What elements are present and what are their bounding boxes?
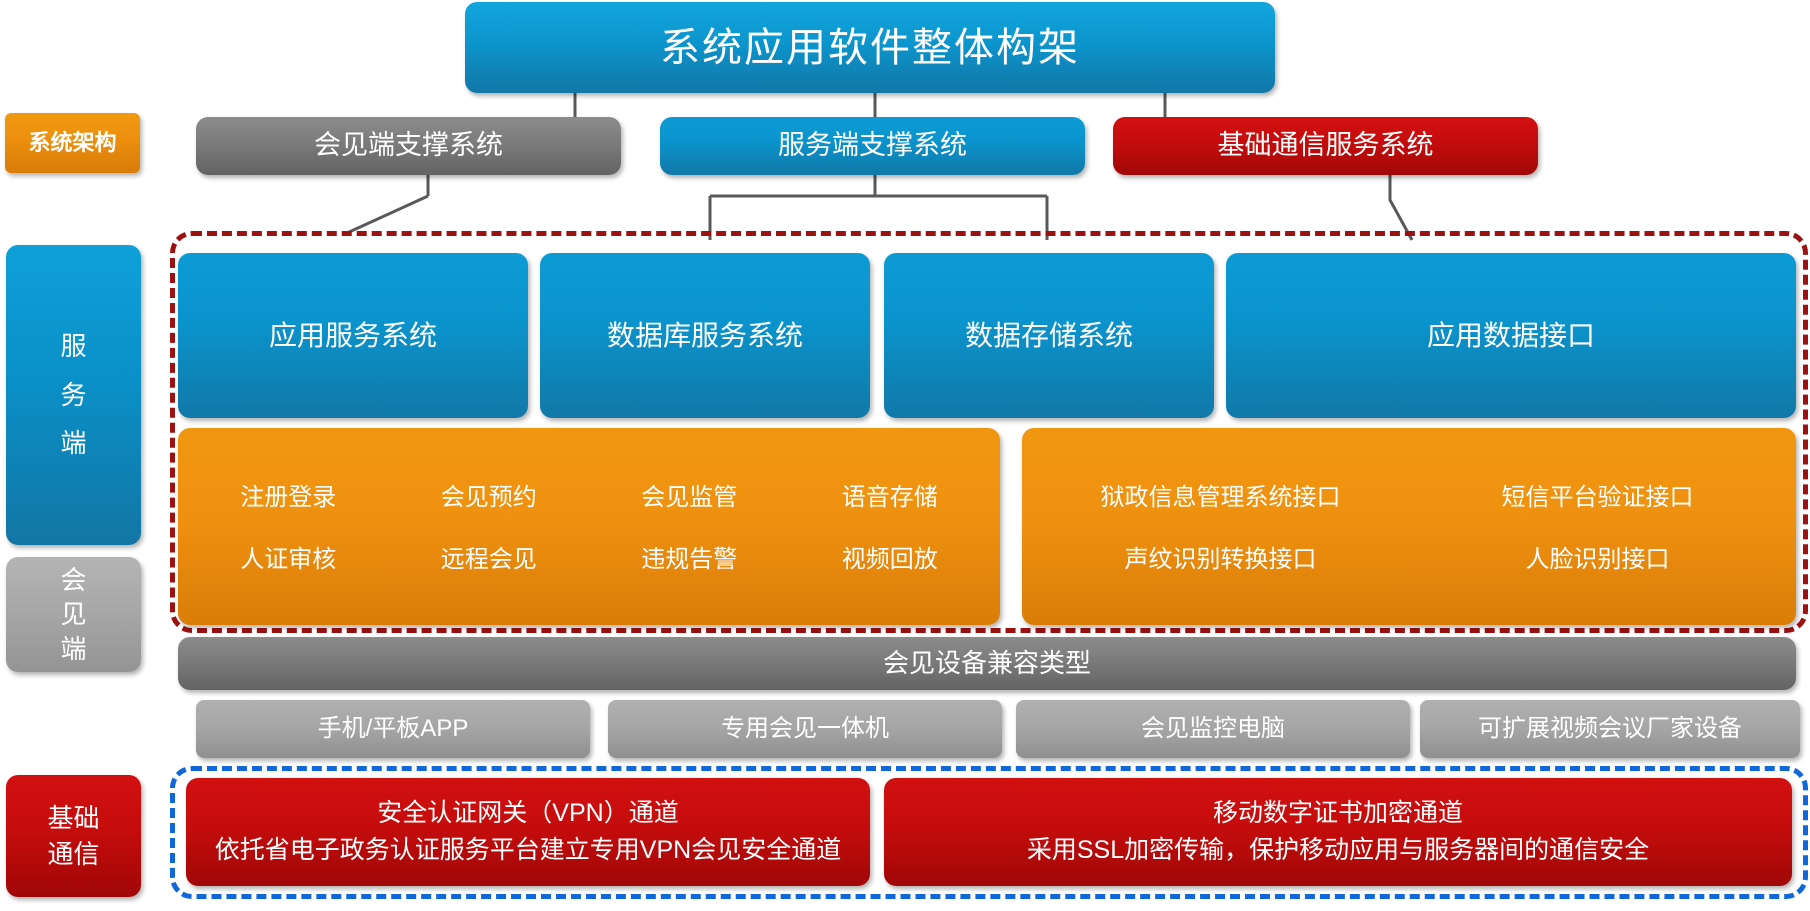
device-type-meeting-monitor-pc[interactable]: 会见监控电脑 <box>1016 700 1410 758</box>
comm-channel-mobile-cert-encrypted[interactable]: 移动数字证书加密通道 采用SSL加密传输，保护移动应用与服务器间的通信安全 <box>884 778 1792 886</box>
side-label-basic-communication-line-1: 基础 <box>47 802 99 835</box>
service-function-video-playback[interactable]: 视频回放 <box>790 545 991 575</box>
comm-channel-vpn-secure-gateway[interactable]: 安全认证网关（VPN）通道 依托省电子政务认证服务平台建立专用VPN会见安全通道 <box>186 778 870 886</box>
side-label-basic-communication: 基础 通信 <box>6 775 141 897</box>
service-interface-sms-verification[interactable]: 短信平台验证接口 <box>1409 483 1786 513</box>
service-function-violation-alert[interactable]: 违规告警 <box>589 545 790 575</box>
side-label-server-side-char-2: 务 <box>60 379 86 412</box>
service-functions-panel: 注册登录 会见预约 会见监管 语音存储 人证审核 远程会见 违规告警 视频回放 <box>178 428 1000 625</box>
service-box-application-service-system-label: 应用服务系统 <box>269 318 437 353</box>
service-functions-row-2: 人证审核 远程会见 违规告警 视频回放 <box>188 545 990 575</box>
arch-box-basic-comm-service-system-label: 基础通信服务系统 <box>1218 129 1434 163</box>
side-label-meeting-terminal-char-1: 会 <box>60 564 86 597</box>
side-label-server-side-char-1: 服 <box>60 330 86 363</box>
device-type-extensible-video-conf-device-label: 可扩展视频会议厂家设备 <box>1478 714 1742 744</box>
service-function-remote-meeting[interactable]: 远程会见 <box>389 545 590 575</box>
arch-box-server-support-system-label: 服务端支撑系统 <box>778 129 967 163</box>
page-title: 系统应用软件整体构架 <box>465 2 1275 93</box>
side-label-meeting-terminal-char-2: 见 <box>60 598 86 631</box>
comm-channel-mobile-cert-encrypted-line-1: 移动数字证书加密通道 <box>884 798 1792 829</box>
service-box-data-storage-system-label: 数据存储系统 <box>965 318 1133 353</box>
page-title-text: 系统应用软件整体构架 <box>660 23 1080 73</box>
service-interfaces-row-2: 声纹识别转换接口 人脸识别接口 <box>1032 545 1786 575</box>
architecture-diagram: 系统应用软件整体构架 系统架构 会见端支撑系统 服务端支撑系统 基础通信服务系统… <box>0 0 1810 911</box>
service-function-identity-verification[interactable]: 人证审核 <box>188 545 389 575</box>
service-interface-face-recognition[interactable]: 人脸识别接口 <box>1409 545 1786 575</box>
service-box-application-data-interface[interactable]: 应用数据接口 <box>1226 253 1796 418</box>
comm-channel-vpn-secure-gateway-line-2: 依托省电子政务认证服务平台建立专用VPN会见安全通道 <box>186 835 870 866</box>
service-function-voice-storage[interactable]: 语音存储 <box>790 483 991 513</box>
service-interface-prison-info-management[interactable]: 狱政信息管理系统接口 <box>1032 483 1409 513</box>
device-type-mobile-tablet-app-label: 手机/平板APP <box>318 714 469 744</box>
device-type-dedicated-meeting-terminal-label: 专用会见一体机 <box>721 714 889 744</box>
device-compatibility-bar: 会见设备兼容类型 <box>178 637 1796 690</box>
service-box-application-service-system[interactable]: 应用服务系统 <box>178 253 528 418</box>
side-label-server-side-char-3: 端 <box>60 427 86 460</box>
service-interface-voiceprint-recognition[interactable]: 声纹识别转换接口 <box>1032 545 1409 575</box>
comm-channel-mobile-cert-encrypted-line-2: 采用SSL加密传输，保护移动应用与服务器间的通信安全 <box>884 835 1792 866</box>
service-function-meeting-supervision[interactable]: 会见监管 <box>589 483 790 513</box>
device-type-dedicated-meeting-terminal[interactable]: 专用会见一体机 <box>608 700 1002 758</box>
side-label-basic-communication-line-2: 通信 <box>47 838 99 871</box>
service-interfaces-panel: 狱政信息管理系统接口 短信平台验证接口 声纹识别转换接口 人脸识别接口 <box>1022 428 1796 625</box>
side-label-system-architecture-text: 系统架构 <box>28 129 116 157</box>
device-type-mobile-tablet-app[interactable]: 手机/平板APP <box>196 700 590 758</box>
side-label-system-architecture: 系统架构 <box>5 113 140 173</box>
comm-channel-vpn-secure-gateway-line-1: 安全认证网关（VPN）通道 <box>186 798 870 829</box>
service-function-meeting-appointment[interactable]: 会见预约 <box>389 483 590 513</box>
arch-box-client-support-system[interactable]: 会见端支撑系统 <box>196 117 621 175</box>
service-functions-row-1: 注册登录 会见预约 会见监管 语音存储 <box>188 483 990 513</box>
service-box-database-service-system-label: 数据库服务系统 <box>607 318 803 353</box>
device-compatibility-bar-label: 会见设备兼容类型 <box>883 647 1091 680</box>
device-type-meeting-monitor-pc-label: 会见监控电脑 <box>1141 714 1285 744</box>
device-type-extensible-video-conf-device[interactable]: 可扩展视频会议厂家设备 <box>1420 700 1800 758</box>
service-function-register-login[interactable]: 注册登录 <box>188 483 389 513</box>
service-box-application-data-interface-label: 应用数据接口 <box>1427 318 1595 353</box>
arch-box-server-support-system[interactable]: 服务端支撑系统 <box>660 117 1085 175</box>
side-label-meeting-terminal-char-3: 端 <box>60 633 86 666</box>
side-label-server-side: 服 务 端 <box>6 245 141 545</box>
service-box-database-service-system[interactable]: 数据库服务系统 <box>540 253 870 418</box>
service-interfaces-row-1: 狱政信息管理系统接口 短信平台验证接口 <box>1032 483 1786 513</box>
side-label-meeting-terminal: 会 见 端 <box>6 557 141 672</box>
arch-box-client-support-system-label: 会见端支撑系统 <box>314 129 503 163</box>
service-box-data-storage-system[interactable]: 数据存储系统 <box>884 253 1214 418</box>
arch-box-basic-comm-service-system[interactable]: 基础通信服务系统 <box>1113 117 1538 175</box>
